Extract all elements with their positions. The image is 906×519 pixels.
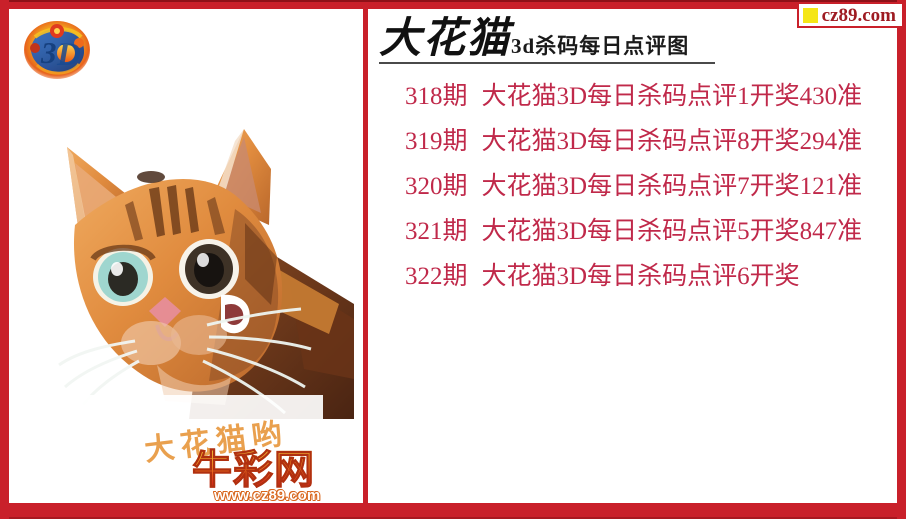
poster-canvas: 3 D (0, 0, 906, 519)
prediction-row: 319期大花猫3D每日杀码点评8开奖294准 (373, 116, 897, 161)
prediction-issue-number: 319期 (405, 121, 468, 157)
prediction-row: 321期大花猫3D每日杀码点评5开奖847准 (373, 206, 897, 251)
prediction-description: 大花猫3D每日杀码点评5开奖847准 (468, 211, 863, 247)
watermark-url: www.cz89.com (214, 487, 320, 503)
prediction-description: 大花猫3D每日杀码点评8开奖294准 (468, 121, 863, 157)
right-text-panel: 大花猫 3d杀码每日点评图 318期大花猫3D每日杀码点评1开奖430准319期… (373, 9, 897, 503)
badge-square-icon (803, 8, 818, 23)
frame-right-border (897, 0, 906, 519)
watermark-logo: 牛彩网 www.cz89.com (192, 449, 352, 503)
title-underline (379, 62, 715, 64)
frame-bottom-border (0, 503, 906, 519)
frame-left-border (0, 0, 9, 519)
svg-text:3: 3 (40, 35, 57, 70)
prediction-issue-number: 321期 (405, 211, 468, 247)
page-title-subtitle: 3d杀码每日点评图 (511, 34, 689, 61)
prediction-row: 318期大花猫3D每日杀码点评1开奖430准 (373, 71, 897, 116)
frame-top-border (0, 0, 906, 9)
prediction-row: 320期大花猫3D每日杀码点评7开奖121准 (373, 161, 897, 206)
page-title: 大花猫 3d杀码每日点评图 (379, 17, 689, 61)
prediction-issue-number: 320期 (405, 166, 468, 202)
site-badge[interactable]: cz89.com (797, 2, 904, 28)
panel-divider-bar (363, 9, 368, 503)
badge-label: cz89.com (822, 6, 896, 25)
panel-divider (357, 9, 373, 503)
cat-illustration (39, 129, 354, 419)
3d-lottery-logo-icon: 3 D (21, 17, 93, 83)
prediction-issue-number: 318期 (405, 76, 468, 112)
left-image-panel: 3 D (9, 9, 357, 503)
prediction-row: 322期大花猫3D每日杀码点评6开奖 (373, 251, 897, 296)
watermark-brand: 牛彩网 (192, 449, 352, 491)
prediction-issue-number: 322期 (405, 256, 468, 292)
prediction-description: 大花猫3D每日杀码点评6开奖 (468, 256, 800, 292)
prediction-row-list: 318期大花猫3D每日杀码点评1开奖430准319期大花猫3D每日杀码点评8开奖… (373, 71, 897, 296)
prediction-description: 大花猫3D每日杀码点评1开奖430准 (468, 76, 863, 112)
prediction-description: 大花猫3D每日杀码点评7开奖121准 (468, 166, 863, 202)
page-title-main: 大花猫 (379, 17, 511, 61)
